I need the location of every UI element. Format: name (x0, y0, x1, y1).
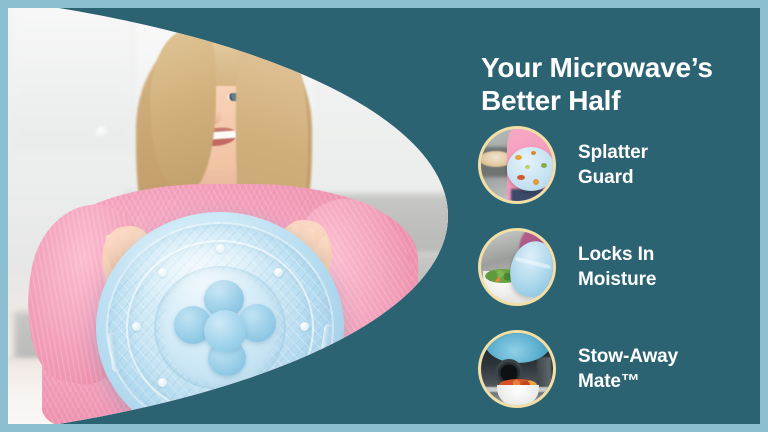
feature-label-splatter-guard: Splatter Guard (578, 140, 648, 190)
feature-item-locks-in-moisture[interactable]: Locks In Moisture (478, 216, 758, 318)
splatter-guard-thumbnail[interactable] (478, 126, 556, 204)
feature-label-stow-away-mate: Stow-Away Mate™ (578, 344, 678, 394)
hair-strand-left (150, 30, 216, 190)
lid-flower-knob (204, 310, 246, 352)
stow-away-mate-thumbnail[interactable] (478, 330, 556, 408)
feature-list: Splatter Guard Loc (478, 114, 758, 420)
product-marketing-banner: Your Microwave’s Better Half (0, 0, 768, 432)
content-panel: Your Microwave’s Better Half (448, 8, 760, 424)
lid-stud-w (132, 322, 141, 331)
lid-stud-s (216, 402, 225, 411)
model-figure (8, 8, 448, 424)
lid-stud-e (300, 322, 309, 331)
lid-stud-sw (158, 378, 167, 387)
feature-item-stow-away-mate[interactable]: Stow-Away Mate™ (478, 318, 758, 420)
page-title: Your Microwave’s Better Half (481, 51, 751, 117)
locks-in-moisture-image (481, 231, 553, 303)
feature-label-locks-in-moisture: Locks In Moisture (578, 242, 656, 292)
feature-item-splatter-guard[interactable]: Splatter Guard (478, 114, 758, 216)
locks-in-moisture-thumbnail[interactable] (478, 228, 556, 306)
banner-stage: Your Microwave’s Better Half (8, 8, 760, 424)
hero-photo-panel (8, 8, 448, 424)
lid-stud-n (216, 244, 225, 253)
stow-away-mate-image (481, 333, 553, 405)
splatter-guard-image (481, 129, 553, 201)
lid-stud-ne (274, 268, 283, 277)
lid-stud-se (274, 378, 283, 387)
lid-stud-nw (158, 268, 167, 277)
hero-photo (8, 8, 448, 424)
